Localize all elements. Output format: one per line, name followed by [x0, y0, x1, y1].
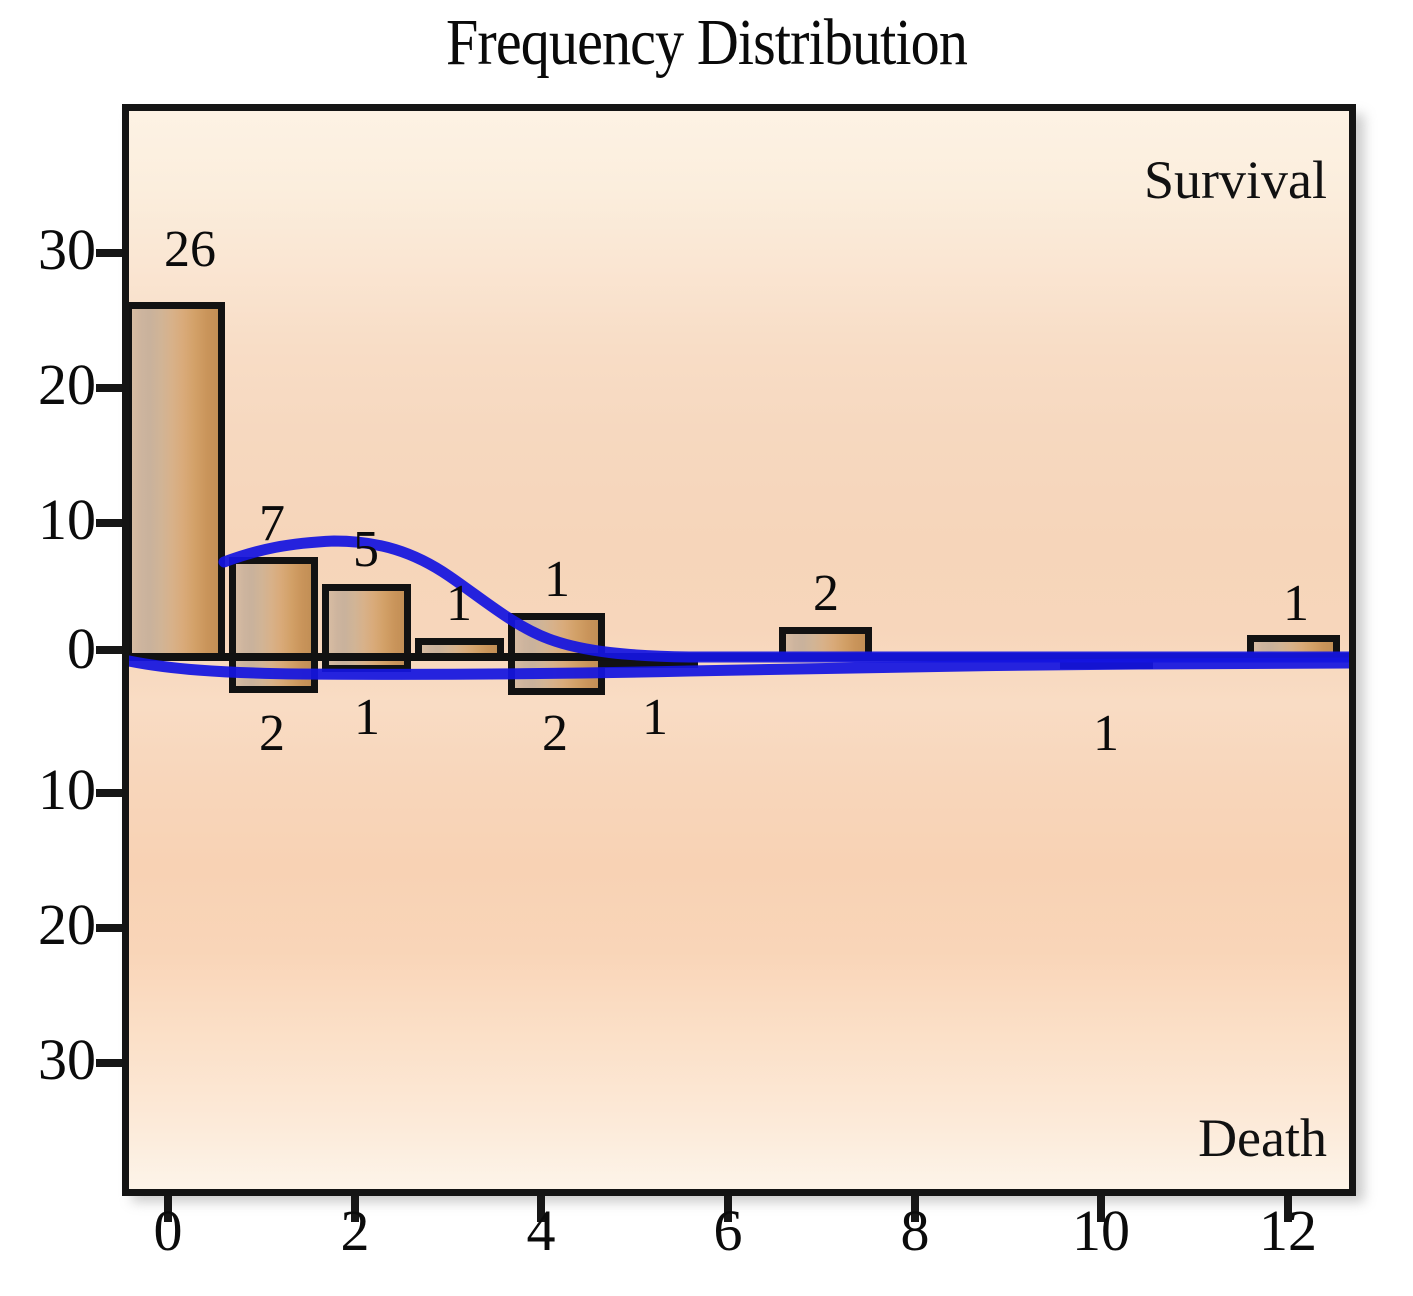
plot-inner: Survival Death: [129, 111, 1349, 1189]
value-label-survival-5: 5: [321, 523, 411, 577]
value-label-death-1-bin2: 1: [322, 691, 412, 745]
y-tick-30-up: [96, 249, 122, 257]
value-label-survival-26: 26: [135, 223, 245, 277]
x-axis-label-2: 2: [295, 1200, 415, 1262]
y-tick-30-down: [96, 1059, 122, 1067]
plot-area: Survival Death: [122, 104, 1356, 1196]
value-label-survival-1-bin12: 1: [1251, 577, 1341, 631]
y-axis-label-20-up: 20: [38, 356, 96, 414]
value-label-survival-7: 7: [227, 497, 317, 551]
y-axis-label-10-down: 10: [38, 761, 96, 819]
value-label-survival-2-bin6: 2: [781, 567, 871, 621]
y-tick-20-down: [96, 924, 122, 932]
x-axis-label-0: 0: [108, 1200, 228, 1262]
x-axis-label-12: 12: [1228, 1200, 1348, 1262]
value-label-death-1-bin10: 1: [1061, 707, 1151, 761]
value-label-death-2-bin4: 2: [510, 707, 600, 761]
y-axis-label-30-up: 30: [38, 221, 96, 279]
value-label-death-1-bin5: 1: [610, 691, 700, 745]
value-label-survival-1-bin3: 1: [414, 577, 504, 631]
x-axis-label-4: 4: [481, 1200, 601, 1262]
y-tick-20-up: [96, 384, 122, 392]
x-axis-label-10: 10: [1041, 1200, 1161, 1262]
distribution-curve-overlay: [129, 111, 1356, 1196]
chart-root: Frequency Distribution 30 20 10 0 10 20 …: [0, 0, 1413, 1296]
y-axis-label-0: 0: [67, 620, 96, 678]
y-axis-label-30-down: 30: [38, 1031, 96, 1089]
y-tick-10-down: [96, 789, 122, 797]
death-fit-curve: [129, 661, 1356, 674]
y-axis-label-10-up: 10: [38, 491, 96, 549]
chart-title: Frequency Distribution: [85, 6, 1328, 80]
y-tick-10-up: [96, 519, 122, 527]
value-label-death-2-bin1: 2: [227, 707, 317, 761]
y-tick-0: [96, 646, 122, 654]
y-axis-label-20-down: 20: [38, 896, 96, 954]
value-label-survival-1-bin4: 1: [512, 553, 602, 607]
x-axis-label-6: 6: [668, 1200, 788, 1262]
x-axis-label-8: 8: [855, 1200, 975, 1262]
